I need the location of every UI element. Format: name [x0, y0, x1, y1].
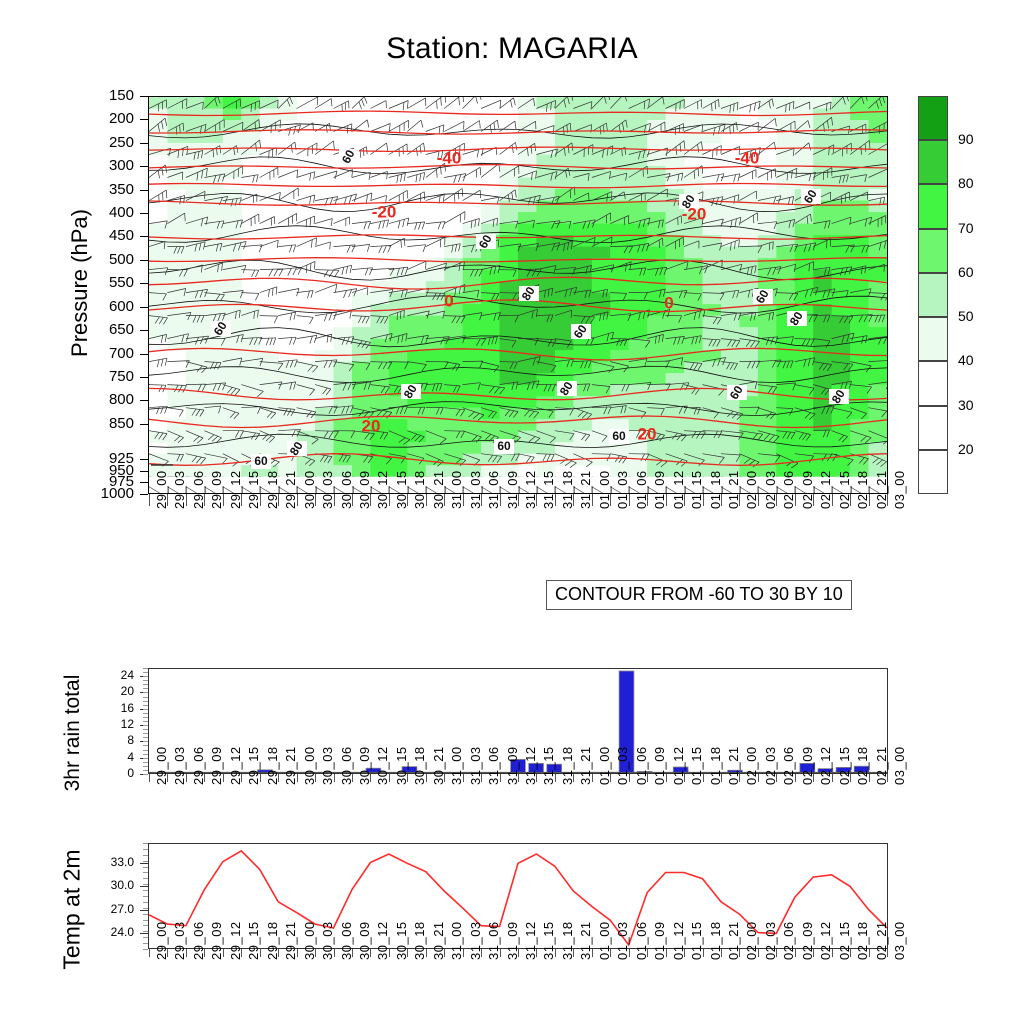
time-tick-label: 03_00: [892, 470, 907, 509]
wind-barb-feather: [161, 359, 163, 367]
wind-barb-shaft: [149, 221, 167, 224]
shade-cell: [407, 293, 426, 305]
time-tick: [647, 949, 648, 957]
shade-cell: [832, 293, 851, 305]
shade-cell: [703, 189, 722, 201]
contour-label-text: 60: [612, 429, 626, 443]
temp-minor-tick: [143, 884, 148, 885]
contour-label: 60: [612, 429, 626, 443]
shade-cell: [703, 442, 722, 454]
shade-cell: [389, 327, 408, 339]
time-tick: [703, 949, 704, 957]
time-tick: [352, 949, 353, 957]
wind-barb-feather: [293, 268, 297, 275]
shade-cell: [444, 385, 463, 397]
time-tick: [869, 494, 870, 506]
wind-barb-shaft: [481, 164, 499, 178]
wind-barb-shaft: [260, 287, 277, 293]
time-tick: [666, 774, 667, 782]
shade-cell: [352, 362, 371, 374]
shade-cell: [573, 419, 592, 431]
time-tick: [278, 949, 279, 957]
cross-section-plot: 6060606060606060606080808080808080808080…: [148, 96, 888, 494]
time-tick: [573, 494, 574, 506]
rain-bar: [637, 771, 652, 773]
shade-cell: [666, 109, 685, 121]
shade-cell: [684, 224, 703, 236]
shade-cell: [536, 419, 555, 431]
wind-barb-feather: [293, 245, 295, 252]
shade-cell: [832, 442, 851, 454]
shade-cell: [241, 385, 260, 397]
wind-barb-shaft: [407, 245, 425, 247]
rain-bar: [728, 770, 743, 773]
wind-barb-shaft: [315, 270, 339, 271]
shade-cell: [684, 419, 703, 431]
contour-label-text: 20: [638, 424, 657, 443]
shade-cell: [518, 178, 537, 190]
wind-barb-shaft: [389, 120, 409, 131]
shade-cell: [647, 396, 666, 408]
time-tick: [315, 774, 316, 782]
wind-barb-feather: [288, 268, 292, 275]
shade-cell: [758, 316, 777, 328]
shade-cell: [518, 396, 537, 408]
shade-cell: [647, 316, 666, 328]
time-tick: [463, 774, 464, 782]
wind-barb-feather: [349, 101, 350, 109]
wind-barb-feather: [315, 261, 316, 269]
time-tick-label: 30_03: [320, 921, 335, 960]
time-tick-label: 01_15: [689, 746, 704, 785]
shade-cell: [739, 235, 758, 247]
shade-cell: [776, 247, 795, 259]
pressure-tick-label: 600: [60, 299, 134, 314]
pressure-tick-label: 450: [60, 228, 134, 243]
wind-barb-feather: [165, 165, 166, 173]
time-tick: [223, 494, 224, 506]
time-tick: [389, 949, 390, 957]
wind-barb-feather: [790, 103, 791, 111]
wind-barb-feather: [362, 99, 365, 106]
wind-barb-shaft: [444, 174, 466, 178]
rain-bar: [800, 763, 815, 773]
time-tick: [536, 949, 537, 957]
shade-cell: [463, 316, 482, 328]
shade-cell: [573, 442, 592, 454]
wind-barb-feather: [439, 126, 440, 134]
shade-cell: [666, 247, 685, 259]
time-tick: [555, 494, 556, 506]
wind-barb-shaft: [297, 172, 315, 178]
colorbar-label: 90: [958, 131, 974, 147]
shade-cell: [426, 270, 445, 282]
shade-cell: [260, 431, 279, 443]
shade-cell: [186, 442, 205, 454]
temp-minor-tick: [143, 931, 148, 932]
temp-tick: [140, 886, 148, 887]
time-tick-label: 01_18: [708, 921, 723, 960]
contour-label: -20: [372, 202, 397, 221]
wind-barb-feather: [366, 195, 367, 203]
wind-barb-shaft: [426, 222, 445, 224]
wind-barb-shaft: [407, 407, 425, 408]
wind-barb-shaft: [297, 195, 315, 201]
shade-cell: [518, 316, 537, 328]
time-tick: [518, 494, 519, 506]
shade-cell: [739, 442, 758, 454]
time-tick: [223, 774, 224, 782]
time-tick-label: 29_03: [172, 746, 187, 785]
wind-barb-feather: [719, 99, 720, 107]
shade-cell: [592, 442, 611, 454]
rain-minor-tick: [143, 684, 148, 685]
shade-cell: [204, 350, 223, 362]
wind-barb-shaft: [463, 121, 480, 132]
wind-barb-shaft: [241, 175, 258, 178]
time-tick-label: 31_06: [486, 921, 501, 960]
contour-label: -40: [437, 148, 462, 167]
time-tick: [869, 949, 870, 957]
shade-cell: [573, 224, 592, 236]
wind-barb-shaft: [352, 288, 368, 293]
shade-cell: [481, 339, 500, 351]
time-tick-label: 30_12: [375, 921, 390, 960]
wind-barb-feather: [179, 410, 183, 417]
temp-minor-tick: [143, 896, 148, 897]
wind-barb-shaft: [334, 194, 357, 201]
wind-barb-shaft: [592, 454, 611, 455]
wind-barb-feather: [717, 175, 720, 183]
time-tick-label: 31_21: [578, 746, 593, 785]
temp-tick-label: 33.0: [92, 856, 134, 868]
wind-barb-shaft: [334, 265, 352, 269]
temp-minor-tick: [143, 843, 148, 844]
shade-cell: [592, 247, 611, 259]
time-tick: [297, 949, 298, 957]
shade-cell: [776, 155, 795, 167]
shade-cell: [813, 212, 832, 224]
wind-barb-feather: [310, 317, 314, 324]
wind-barb-shaft: [297, 97, 318, 109]
shade-cell: [536, 224, 555, 236]
shade-cell: [186, 293, 205, 305]
pressure-tick-label: 300: [60, 158, 134, 173]
pressure-tick-label: 550: [60, 275, 134, 290]
wind-barb-shaft: [315, 219, 332, 224]
shade-cell: [167, 327, 186, 339]
time-tick-label: 29_00: [154, 746, 169, 785]
wind-barb-feather: [622, 149, 623, 157]
wind-barb-shaft: [241, 214, 258, 224]
wind-barb-shaft: [260, 167, 278, 177]
rain-bar: [836, 767, 851, 773]
wind-barb-feather: [497, 120, 498, 128]
contour-label: 60: [254, 454, 268, 468]
wind-barb-shaft: [426, 97, 445, 109]
rain-minor-tick: [143, 717, 148, 718]
wind-barb-feather: [185, 213, 186, 221]
time-tick-label: 30_21: [431, 921, 446, 960]
wind-barb-feather: [311, 291, 313, 298]
time-tick-label: 31_12: [523, 746, 538, 785]
pressure-tick: [140, 166, 148, 167]
wind-barb-feather: [330, 242, 331, 250]
shade-cell: [444, 419, 463, 431]
colorbar-label: 70: [958, 220, 974, 236]
shade-cell: [334, 442, 353, 454]
contour-label: -20: [682, 204, 707, 223]
wind-barb-feather: [314, 216, 315, 224]
shade-cell: [795, 431, 814, 443]
time-tick: [758, 774, 759, 782]
wind-barb-feather: [387, 143, 388, 151]
shade-cell: [813, 442, 832, 454]
time-tick-label: 30_06: [339, 921, 354, 960]
wind-barb-feather: [244, 242, 247, 250]
shade-cell: [573, 155, 592, 167]
wind-barb-feather: [367, 244, 369, 251]
time-tick-label: 30_15: [394, 746, 409, 785]
time-tick: [795, 949, 796, 957]
rain-tick: [140, 758, 148, 759]
wind-barb-shaft: [739, 101, 760, 108]
shade-cell: [555, 155, 574, 167]
pressure-tick-label: 400: [60, 205, 134, 220]
shade-cell: [444, 350, 463, 362]
shade-cell: [647, 178, 666, 190]
wind-barb-shaft: [370, 245, 391, 246]
wind-barb-feather: [270, 338, 273, 345]
temp-plot: [148, 843, 888, 949]
wind-barb-feather: [426, 261, 427, 269]
colorbar-label: 40: [958, 352, 974, 368]
shade-cell: [592, 454, 611, 466]
rain-minor-tick: [143, 745, 148, 746]
shade-cell: [260, 442, 279, 454]
time-tick-label: 30_06: [339, 746, 354, 785]
rain-axis-title: 3hr rain total: [61, 643, 85, 823]
shade-cell: [167, 155, 186, 167]
rain-minor-tick: [143, 750, 148, 751]
wind-barb-feather: [326, 125, 327, 133]
shade-cell: [407, 442, 426, 454]
time-tick: [739, 774, 740, 782]
shade-cell: [776, 212, 795, 224]
shade-cell: [795, 178, 814, 190]
time-tick: [223, 949, 224, 957]
shade-cell: [352, 316, 371, 328]
wind-barb-feather: [387, 171, 388, 179]
wind-barb-shaft: [315, 242, 330, 247]
shade-cell: [813, 408, 832, 420]
shade-cell: [832, 132, 851, 144]
shade-cell: [370, 396, 389, 408]
wind-barb-shaft: [739, 170, 756, 178]
wind-barb-feather: [255, 270, 258, 277]
shade-cell: [758, 408, 777, 420]
shade-cell: [721, 316, 740, 328]
shade-cell: [518, 189, 537, 201]
time-tick-label: 01_03: [615, 746, 630, 785]
shade-cell: [167, 235, 186, 247]
temp-tick: [140, 933, 148, 934]
wind-barb-feather: [162, 168, 163, 176]
time-tick-label: 29_15: [246, 746, 261, 785]
wind-barb-feather: [165, 406, 168, 413]
wind-barb-feather: [316, 238, 317, 246]
temp-axis-title: Temp at 2m: [59, 815, 86, 1005]
shade-cell: [573, 431, 592, 443]
wind-barb-feather: [253, 175, 255, 182]
shade-cell: [555, 109, 574, 121]
temp-minor-tick: [143, 867, 148, 868]
shade-cell: [518, 419, 537, 431]
shade-cell: [444, 316, 463, 328]
time-tick: [370, 949, 371, 957]
contour-label: 60: [497, 439, 511, 453]
temp-tick-label: 24.0: [92, 926, 134, 938]
rain-bar: [402, 767, 417, 773]
shade-cell: [500, 201, 519, 213]
time-tick-label: 02_15: [837, 746, 852, 785]
rain-minor-tick: [143, 697, 148, 698]
shade-cell: [850, 155, 869, 167]
wind-barb-feather: [306, 265, 307, 273]
time-tick: [463, 494, 464, 506]
pressure-tick: [140, 400, 148, 401]
shade-cell: [666, 316, 685, 328]
wind-barb-shaft: [352, 97, 364, 109]
time-tick-label: 29_06: [191, 921, 206, 960]
colorbar-segment: [918, 450, 948, 494]
wind-barb-feather: [163, 192, 164, 200]
rain-bars-svg: [149, 669, 887, 773]
shade-cell: [795, 143, 814, 155]
wind-barb-feather: [289, 128, 291, 136]
rain-minor-tick: [143, 688, 148, 689]
shade-cell: [610, 373, 629, 385]
shade-cell: [739, 362, 758, 374]
shade-cell: [555, 189, 574, 201]
shade-cell: [869, 442, 887, 454]
wind-barb-feather: [401, 174, 402, 182]
wind-barb-feather: [349, 290, 352, 298]
shade-cell: [518, 442, 537, 454]
wind-barb-shaft: [703, 431, 722, 432]
rain-bar: [547, 764, 562, 773]
shade-cell: [776, 396, 795, 408]
shade-cell: [149, 293, 168, 305]
wind-barb-shaft: [334, 101, 349, 109]
wind-barb-feather: [331, 99, 332, 107]
time-tick-label: 02_09: [800, 746, 815, 785]
wind-barb-feather: [365, 268, 368, 275]
shade-cell: [610, 316, 629, 328]
time-tick: [426, 494, 427, 506]
shade-cell: [832, 224, 851, 236]
contour-label: 20: [362, 416, 381, 435]
time-tick-label: 29_06: [191, 746, 206, 785]
shade-cell: [647, 339, 666, 351]
shade-cell: [241, 419, 260, 431]
pressure-tick-label: 200: [60, 111, 134, 126]
shade-cell: [536, 293, 555, 305]
shade-cell: [297, 396, 316, 408]
shade-cell: [684, 373, 703, 385]
wind-barb-feather: [458, 174, 461, 182]
shade-cell: [721, 327, 740, 339]
shade-cell: [573, 362, 592, 374]
shade-cell: [592, 316, 611, 328]
shade-cell: [703, 350, 722, 362]
time-tick: [444, 774, 445, 782]
wind-barb-feather: [420, 174, 421, 182]
wind-barb-shaft: [260, 338, 276, 339]
shade-cell: [666, 442, 685, 454]
shade-cell: [592, 304, 611, 316]
shade-cell: [481, 373, 500, 385]
shade-cell: [426, 454, 445, 466]
rain-minor-tick: [143, 729, 148, 730]
shade-cell: [869, 201, 887, 213]
shade-cell: [186, 155, 205, 167]
rain-minor-tick: [143, 762, 148, 763]
shade-cell: [167, 454, 186, 466]
wind-barb-feather: [407, 218, 409, 226]
time-tick: [481, 949, 482, 957]
time-tick: [684, 494, 685, 506]
shade-cell: [850, 373, 869, 385]
wind-barb-feather: [334, 312, 337, 320]
time-tick: [334, 774, 335, 782]
wind-barb-shaft: [297, 216, 315, 224]
shade-cell: [315, 362, 334, 374]
shade-cell: [167, 224, 186, 236]
shade-cell: [167, 316, 186, 328]
time-tick-label: 01_15: [689, 921, 704, 960]
time-tick: [297, 774, 298, 782]
time-tick-label: 31_15: [541, 921, 556, 960]
shade-cell: [315, 373, 334, 385]
time-tick: [610, 494, 611, 506]
wind-barb-feather: [272, 288, 273, 296]
wind-barb-feather: [404, 173, 405, 181]
shade-cell: [241, 339, 260, 351]
wind-barb-shaft: [481, 197, 499, 201]
shade-cell: [500, 247, 519, 259]
wind-barb-shaft: [278, 360, 297, 362]
wind-barb-shaft: [426, 125, 444, 132]
time-tick-label: 29_12: [228, 746, 243, 785]
shade-cell: [536, 281, 555, 293]
shade-cell: [795, 155, 814, 167]
shade-cell: [758, 442, 777, 454]
shade-cell: [204, 109, 223, 121]
wind-barb-feather: [273, 338, 276, 345]
wind-barb-feather: [310, 196, 311, 204]
shade-cell: [629, 385, 648, 397]
temp-line: [149, 851, 887, 945]
shade-cell: [149, 327, 168, 339]
shade-cell: [518, 327, 537, 339]
pressure-tick: [140, 283, 148, 284]
temp-tick: [140, 863, 148, 864]
colorbar-segment: [918, 140, 948, 184]
shade-cell: [500, 224, 519, 236]
pressure-tick: [140, 459, 148, 460]
shade-cell: [647, 201, 666, 213]
